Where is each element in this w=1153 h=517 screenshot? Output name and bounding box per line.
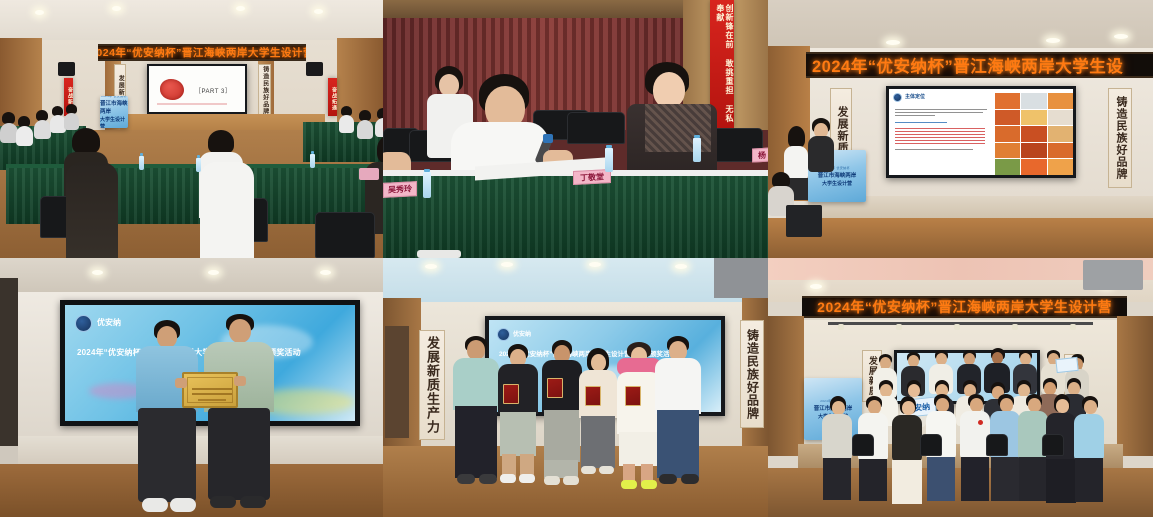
name-placard-3: 杨 bbox=[752, 147, 768, 162]
screen-brand-label: 优安纳 bbox=[513, 329, 531, 338]
podium-line-2: 晋江市海峡两岸 bbox=[100, 99, 128, 115]
door bbox=[385, 326, 409, 438]
screen-brand-label: 优安纳 bbox=[97, 317, 121, 328]
doorway bbox=[0, 278, 18, 446]
ac-vent bbox=[1083, 260, 1143, 290]
downlight-icon bbox=[425, 264, 437, 269]
downlight-icon bbox=[501, 262, 513, 267]
slide-heading: 主体定位 bbox=[905, 93, 925, 100]
podium-line-1: 2024年 优安纳杯 bbox=[101, 96, 127, 98]
photo-cell-6[interactable]: 2024年“优安纳杯”晋江海峡两岸大学生设计营 发展新质 铸造民族 2024年 … bbox=[768, 258, 1153, 517]
track-light-icon bbox=[1070, 324, 1076, 330]
led-banner: 2024年“优安纳杯”晋江海峡两岸大学生设 bbox=[806, 52, 1153, 78]
scroll-left: 发展新质生产力 bbox=[419, 330, 445, 440]
ceiling bbox=[383, 258, 768, 306]
water-bottle bbox=[310, 154, 315, 168]
photo-cell-2[interactable]: 创新锋在前 敢挑重担 无私奉献 bbox=[383, 0, 768, 258]
photo-4-award-presentation: 优安纳 2024年“优安纳杯”晋江海峡两岸大学生设计营评选暨颁奖活动 颁奖仪式 bbox=[0, 258, 383, 517]
table-edge bbox=[6, 164, 379, 168]
screen-logo-icon bbox=[75, 315, 92, 332]
light-track bbox=[828, 322, 1093, 325]
ceiling bbox=[0, 258, 383, 292]
photo-2-speaker-panel: 创新锋在前 敢挑重担 无私奉献 bbox=[383, 0, 768, 258]
led-banner: 2024年“优安纳杯”晋江海峡两岸大学生设计营 bbox=[98, 44, 306, 61]
presentation-screen: ［PART 3］ bbox=[147, 64, 247, 114]
certificate bbox=[503, 384, 519, 404]
chair bbox=[920, 434, 942, 456]
downlight-icon bbox=[1046, 38, 1060, 43]
microphone-flag bbox=[543, 134, 553, 143]
scroll-right: 铸造民族好品牌 bbox=[740, 320, 764, 428]
chair bbox=[315, 212, 375, 258]
speaker-icon bbox=[306, 62, 323, 76]
water-bottle bbox=[605, 148, 613, 172]
downlight-icon bbox=[112, 6, 121, 11]
ac-vent bbox=[714, 258, 768, 298]
lapel-pin-icon bbox=[978, 420, 983, 425]
name-placard-1: 吴秀玲 bbox=[383, 181, 417, 198]
speaker-icon bbox=[58, 62, 75, 76]
photo-cell-1[interactable]: 2024年“优安纳杯”晋江海峡两岸大学生设计营 ［PART 3］ 发展新质 铸造… bbox=[0, 0, 383, 258]
lace-pattern bbox=[645, 104, 711, 152]
water-bottle bbox=[196, 158, 201, 172]
certificate bbox=[585, 386, 601, 406]
podium-line-3: 大学生设计营 bbox=[100, 116, 128, 128]
certificate bbox=[547, 378, 563, 398]
chair bbox=[852, 434, 874, 456]
downlight-icon bbox=[208, 270, 219, 275]
track-light-icon bbox=[954, 324, 960, 330]
certificate bbox=[625, 386, 641, 406]
track-light-icon bbox=[1012, 324, 1018, 330]
led-display-screen: 主体定位 bbox=[886, 86, 1076, 178]
wall-panel-right bbox=[1117, 316, 1153, 456]
hand bbox=[234, 376, 246, 386]
side-banner-right: 奋战拓通 bbox=[328, 78, 337, 116]
wall-panel-left bbox=[768, 316, 804, 456]
track-light-icon bbox=[896, 324, 902, 330]
water-bottle bbox=[139, 156, 144, 170]
water-bottle bbox=[423, 172, 431, 198]
downlight-icon bbox=[675, 264, 687, 269]
slide-text-block bbox=[895, 109, 991, 152]
panel-table-cloth bbox=[383, 176, 768, 258]
scroll-right: 铸造民族好品牌 bbox=[258, 64, 271, 116]
held-sign-right bbox=[1055, 357, 1078, 373]
slide-food-images bbox=[995, 93, 1073, 175]
slide-logo-icon bbox=[893, 93, 902, 102]
slide-seal-icon bbox=[160, 79, 184, 100]
slide-underline bbox=[157, 103, 227, 105]
photo-6-group-photo: 2024年“优安纳杯”晋江海峡两岸大学生设计营 发展新质 铸造民族 2024年 … bbox=[768, 258, 1153, 517]
photo-gallery-grid: 2024年“优安纳杯”晋江海峡两岸大学生设计营 ［PART 3］ 发展新质 铸造… bbox=[0, 0, 1153, 517]
downlight-icon bbox=[236, 6, 245, 11]
downlight-icon bbox=[92, 270, 103, 275]
event-podium: 2024年 优安纳杯 晋江市海峡两岸 大学生设计营 bbox=[100, 96, 128, 128]
photo-cell-5[interactable]: 优安纳 2024年“优安纳杯”晋江海峡两岸大学生设计营评选暨颁奖活动 发展新质生… bbox=[383, 258, 768, 517]
track-light-icon bbox=[838, 324, 844, 330]
podium-line-3: 大学生设计营 bbox=[822, 180, 852, 187]
chair bbox=[567, 112, 625, 144]
floor bbox=[768, 218, 1153, 258]
water-bottle bbox=[693, 138, 701, 162]
downlight-icon bbox=[1114, 34, 1128, 39]
downlight-icon bbox=[320, 270, 331, 275]
downlight-icon bbox=[314, 9, 323, 14]
foreground-equipment bbox=[786, 205, 822, 237]
slide-part-label: ［PART 3］ bbox=[195, 86, 231, 95]
scroll-right: 铸造民族好品牌 bbox=[1108, 88, 1132, 188]
downlight-icon bbox=[886, 40, 900, 45]
award-plaque bbox=[182, 372, 238, 408]
downlight-icon bbox=[35, 10, 44, 15]
handout-paper bbox=[359, 168, 379, 180]
led-banner: 2024年“优安纳杯”晋江海峡两岸大学生设计营 bbox=[802, 296, 1127, 318]
downlight-icon bbox=[810, 284, 822, 289]
photo-5-group-award: 优安纳 2024年“优安纳杯”晋江海峡两岸大学生设计营评选暨颁奖活动 发展新质生… bbox=[383, 258, 768, 517]
photo-1-conference-room: 2024年“优安纳杯”晋江海峡两岸大学生设计营 ［PART 3］ 发展新质 铸造… bbox=[0, 0, 383, 258]
screen-logo-icon bbox=[497, 328, 510, 341]
hand bbox=[175, 378, 187, 388]
ceiling bbox=[0, 0, 383, 40]
photo-cell-4[interactable]: 优安纳 2024年“优安纳杯”晋江海峡两岸大学生设计营评选暨颁奖活动 颁奖仪式 bbox=[0, 258, 383, 517]
foreground-object bbox=[417, 250, 461, 258]
photo-cell-3[interactable]: 2024年“优安纳杯”晋江海峡两岸大学生设 主体定位 bbox=[768, 0, 1153, 258]
photo-3-presentation: 2024年“优安纳杯”晋江海峡两岸大学生设 主体定位 bbox=[768, 0, 1153, 258]
chair bbox=[986, 434, 1008, 456]
downlight-icon bbox=[589, 262, 601, 267]
chair bbox=[1042, 434, 1064, 456]
ceiling bbox=[768, 0, 1153, 48]
